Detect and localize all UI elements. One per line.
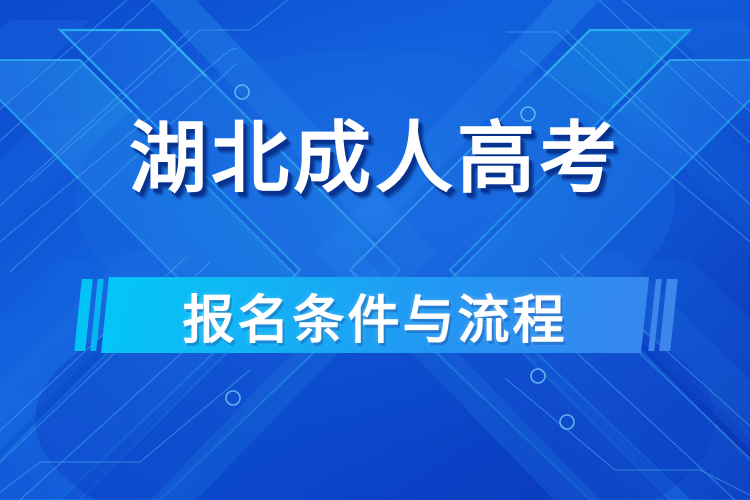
circuit-trace-decoration [0, 0, 750, 500]
subtitle-band-group: 报名条件与流程 [0, 277, 750, 357]
accent-bar-left-outer [74, 279, 93, 351]
promo-banner: 湖北成人高考 报名条件与流程 [0, 0, 750, 500]
accent-bar-right-outer [659, 279, 678, 351]
circuit-node-circles [199, 85, 574, 429]
page-subtitle: 报名条件与流程 [105, 277, 645, 353]
